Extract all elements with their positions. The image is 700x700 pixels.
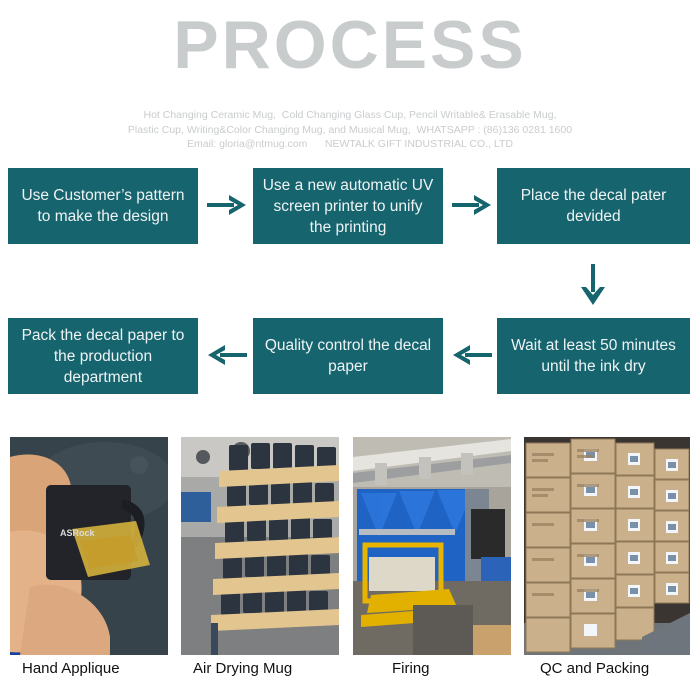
contact-info-block: Hot Changing Ceramic Mug, Cold Changing … [0,108,700,152]
flow-step-6: Pack the decal paper to the production d… [8,318,198,394]
arrow-left-icon [205,340,249,370]
flow-step-3-label: Place the decal pater devided [505,185,682,227]
photo-qc-packing [524,437,690,655]
arrow-right-icon [205,190,249,220]
flow-step-5: Quality control the decal paper [253,318,443,394]
flow-step-4: Wait at least 50 minutes until the ink d… [497,318,690,394]
contact-line-3: Email: gloria@ntmug.com NEWTALK GIFT IND… [0,137,700,152]
arrow-right-icon [450,190,494,220]
flow-step-1-label: Use Customer’s pattern to make the desig… [16,185,190,227]
svg-text:ASRock: ASRock [60,528,96,538]
flow-step-6-label: Pack the decal paper to the production d… [16,325,190,388]
flow-step-2-label: Use a new automatic UV screen printer to… [261,175,435,238]
page-title: PROCESS [0,8,700,83]
arrow-down-icon [576,262,610,308]
arrow-left-icon [450,340,494,370]
contact-line-2: Plastic Cup, Writing&Color Changing Mug,… [0,123,700,138]
photo-caption-hand-applique: Hand Applique [22,660,120,684]
photo-caption-qc-packing: QC and Packing [540,660,649,684]
flow-step-3: Place the decal pater devided [497,168,690,244]
photo-air-drying [181,437,339,655]
flow-step-5-label: Quality control the decal paper [261,335,435,377]
photo-caption-firing: Firing [392,660,430,684]
flow-step-4-label: Wait at least 50 minutes until the ink d… [505,335,682,377]
contact-line-1: Hot Changing Ceramic Mug, Cold Changing … [0,108,700,123]
flow-step-1: Use Customer’s pattern to make the desig… [8,168,198,244]
photo-hand-applique: ASRock [10,437,168,655]
photo-firing [353,437,511,655]
flow-step-2: Use a new automatic UV screen printer to… [253,168,443,244]
photo-caption-air-drying: Air Drying Mug [193,660,292,684]
